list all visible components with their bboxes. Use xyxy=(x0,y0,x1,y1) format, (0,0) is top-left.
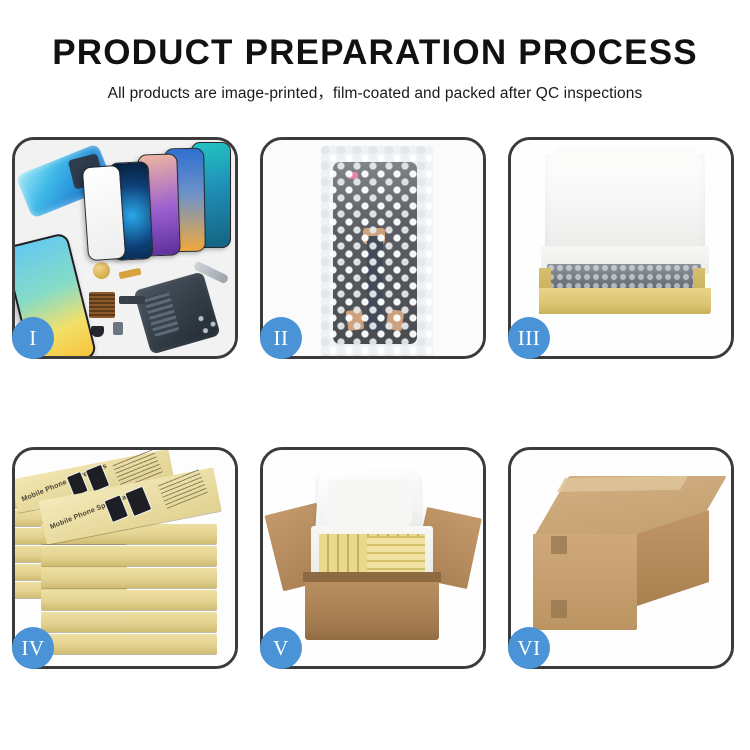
phone-white-screen xyxy=(82,165,126,261)
connector-grid-part xyxy=(89,292,115,318)
page-title: PRODUCT PREPARATION PROCESS xyxy=(0,34,750,73)
bubble-texture-overlay xyxy=(321,146,433,356)
box-stack-front-5 xyxy=(41,612,217,632)
screws-group xyxy=(195,312,225,334)
flex-cable-gold-part xyxy=(119,268,142,279)
step-badge-6: VI xyxy=(508,627,550,669)
process-step-1[interactable]: I xyxy=(12,137,238,359)
process-step-3[interactable]: III xyxy=(508,137,734,359)
carton-rim xyxy=(303,572,441,582)
carton-face-panel xyxy=(533,534,637,630)
process-step-6[interactable]: VI xyxy=(508,447,734,669)
box-thumb-b2 xyxy=(124,486,152,518)
process-step-2[interactable]: II xyxy=(260,137,486,359)
vibrator-motor-part xyxy=(93,262,110,279)
box-stack-front-4 xyxy=(41,590,217,610)
step-badge-4: IV xyxy=(12,627,54,669)
bubble-wrap-bag xyxy=(321,146,433,356)
page-header: PRODUCT PREPARATION PROCESS All products… xyxy=(0,0,750,102)
tray-front-panel xyxy=(539,288,711,314)
step-badge-3: III xyxy=(508,317,550,359)
packed-boxes-row-b xyxy=(367,536,425,576)
step-badge-1: I xyxy=(12,317,54,359)
process-step-5[interactable]: V xyxy=(260,447,486,669)
step-badge-5: V xyxy=(260,627,302,669)
carton-seam-tab-bottom xyxy=(551,600,567,618)
flex-cable-part-b xyxy=(119,296,145,304)
box-stack-front-3 xyxy=(41,568,217,588)
button-part xyxy=(113,322,123,335)
loudspeaker-part xyxy=(91,326,104,337)
page-subtitle: All products are image-printed，film-coat… xyxy=(0,85,750,102)
box-stack-front-6 xyxy=(41,634,217,654)
carton-front-panel xyxy=(305,578,439,640)
packing-tape-strip xyxy=(557,476,688,492)
process-step-grid: I II III xyxy=(12,137,738,669)
process-step-4[interactable]: Mobile Phone Spare Parts Mobile Phone Sp… xyxy=(12,447,238,669)
step-badge-2: II xyxy=(260,317,302,359)
carton-seam-tab-top xyxy=(551,536,567,554)
box-stack-front-2 xyxy=(41,546,217,566)
